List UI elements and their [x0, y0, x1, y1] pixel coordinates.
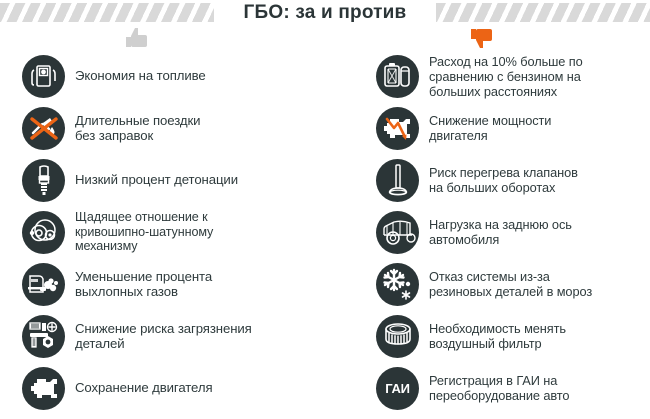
list-item-label: Экономия на топливе: [75, 68, 206, 83]
air-filter-icon: [376, 315, 419, 358]
list-item[interactable]: Щадящее отношение к кривошипно-шатунному…: [22, 206, 358, 258]
gai-icon: ГАИ: [376, 367, 419, 410]
list-item-label: Отказ системы из-за резиновых деталей в …: [429, 269, 592, 299]
list-item[interactable]: Низкий процент детонации: [22, 154, 358, 206]
header: ГБО: за и против: [0, 0, 650, 26]
exhaust-gas-icon: [22, 263, 65, 306]
spark-plug-icon: [22, 159, 65, 202]
list-item-label: Необходимость менять воздушный фильтр: [429, 321, 566, 351]
list-item[interactable]: Сохранение двигателя: [22, 362, 358, 414]
valve-icon: [376, 159, 419, 202]
list-item[interactable]: Отказ системы из-за резиновых деталей в …: [376, 258, 650, 310]
engine-power-down-icon: [376, 107, 419, 150]
list-item-label: Уменьшение процента выхлопных газов: [75, 269, 212, 299]
list-item[interactable]: Снижение риска загрязнения деталей: [22, 310, 358, 362]
cons-column: Расход на 10% больше по сравнению с бенз…: [358, 50, 650, 414]
engine-block-icon: [22, 367, 65, 410]
rear-axle-icon: [376, 211, 419, 254]
list-item-label: Снижение мощности двигателя: [429, 113, 551, 143]
list-item[interactable]: Нагрузка на заднюю ось автомобиля: [376, 206, 650, 258]
list-item[interactable]: Снижение мощности двигателя: [376, 102, 650, 154]
list-item[interactable]: Необходимость менять воздушный фильтр: [376, 310, 650, 362]
page-title: ГБО: за и против: [231, 2, 420, 24]
engine-parts-icon: [22, 315, 65, 358]
thumbs-up-icon: [125, 27, 151, 49]
no-refuel-icon: [22, 107, 65, 150]
list-item[interactable]: ГАИ Регистрация в ГАИ на переоборудовани…: [376, 362, 650, 414]
list-item-label: Сохранение двигателя: [75, 380, 213, 395]
list-item-label: Снижение риска загрязнения деталей: [75, 321, 252, 351]
fuel-pump-icon: [22, 55, 65, 98]
thumbs-row: [0, 26, 650, 48]
infographic-page: ГБО: за и против: [0, 0, 650, 419]
thumbs-down-icon: [470, 27, 496, 49]
stripes-left-decoration: [0, 3, 214, 22]
list-item[interactable]: Длительные поездки без заправок: [22, 102, 358, 154]
list-item-label: Риск перегрева клапанов на больших оборо…: [429, 165, 578, 195]
jerry-can-icon: [376, 55, 419, 98]
gai-label: ГАИ: [385, 381, 409, 396]
list-item-label: Регистрация в ГАИ на переоборудование ав…: [429, 373, 569, 403]
snowflake-icon: [376, 263, 419, 306]
list-item-label: Расход на 10% больше по сравнению с бенз…: [429, 54, 583, 99]
stripes-right-decoration: [436, 3, 650, 22]
list-item-label: Нагрузка на заднюю ось автомобиля: [429, 217, 572, 247]
list-item-label: Длительные поездки без заправок: [75, 113, 200, 143]
pros-column: Экономия на топливе Длительные поездки б…: [0, 50, 358, 414]
list-item[interactable]: Экономия на топливе: [22, 50, 358, 102]
list-item[interactable]: Риск перегрева клапанов на больших оборо…: [376, 154, 650, 206]
crankshaft-icon: [22, 211, 65, 254]
content-columns: Экономия на топливе Длительные поездки б…: [0, 48, 650, 414]
list-item-label: Щадящее отношение к кривошипно-шатунному…: [75, 210, 213, 254]
list-item-label: Низкий процент детонации: [75, 172, 238, 187]
list-item[interactable]: Расход на 10% больше по сравнению с бенз…: [376, 50, 650, 102]
list-item[interactable]: Уменьшение процента выхлопных газов: [22, 258, 358, 310]
